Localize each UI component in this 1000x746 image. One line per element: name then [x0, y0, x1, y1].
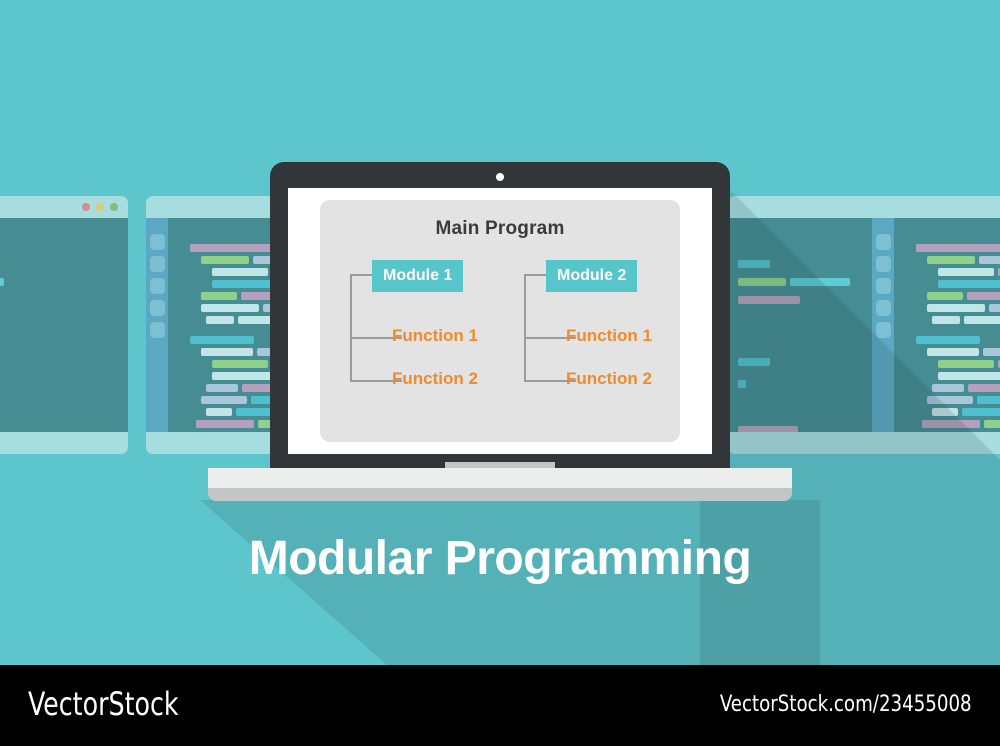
window-sidebar-rail	[146, 218, 168, 432]
code-line	[932, 384, 964, 392]
code-line	[979, 256, 1000, 264]
code-line	[201, 348, 253, 356]
module-box-1[interactable]: Module 1	[372, 260, 463, 292]
rail-button[interactable]	[876, 300, 891, 316]
vectorstock-credit: VectorStock.com/23455008	[720, 692, 972, 717]
rail-button[interactable]	[150, 234, 165, 250]
code-line	[938, 372, 1000, 380]
code-line	[927, 292, 963, 300]
code-line	[977, 396, 1000, 404]
vectorstock-logo: VectorStock	[28, 685, 179, 723]
code-line	[206, 408, 232, 416]
connector-vertical	[524, 274, 526, 382]
rail-button[interactable]	[876, 234, 891, 250]
module-box-2[interactable]: Module 2	[546, 260, 637, 292]
camera-dot-icon	[496, 173, 504, 181]
code-line	[206, 384, 238, 392]
laptop-lid: Main Program Module 1 Function 1 Functio…	[270, 162, 730, 470]
window-statusbar	[0, 432, 128, 454]
minimize-dot	[96, 203, 104, 211]
rail-button[interactable]	[150, 256, 165, 272]
footer-bar: VectorStock VectorStock.com/23455008	[0, 665, 1000, 746]
code-line	[938, 360, 994, 368]
code-line	[190, 244, 278, 252]
connector-vertical	[350, 274, 352, 382]
code-line	[201, 304, 259, 312]
rail-button[interactable]	[150, 300, 165, 316]
function-label-1-1[interactable]: Function 1	[392, 326, 478, 346]
window-traffic-lights	[82, 203, 118, 211]
window-titlebar	[872, 196, 1000, 218]
code-line	[938, 280, 1000, 288]
code-line	[206, 316, 234, 324]
function-label-2-2[interactable]: Function 2	[566, 369, 652, 389]
laptop-base-lip	[208, 488, 792, 501]
code-line	[962, 408, 1000, 416]
code-line	[983, 348, 1000, 356]
page-title: Main Program	[320, 218, 680, 240]
code-line	[927, 304, 985, 312]
rail-button[interactable]	[150, 278, 165, 294]
code-line	[201, 396, 247, 404]
close-dot	[82, 203, 90, 211]
function-label-1-2[interactable]: Function 2	[392, 369, 478, 389]
code-line	[967, 292, 1000, 300]
code-line	[932, 316, 960, 324]
code-line	[212, 360, 268, 368]
rail-button[interactable]	[876, 322, 891, 338]
code-line	[938, 268, 994, 276]
window-titlebar	[0, 196, 128, 218]
rail-button[interactable]	[876, 256, 891, 272]
code-line	[968, 384, 1000, 392]
code-line	[927, 256, 975, 264]
headline: Modular Programming	[0, 531, 1000, 586]
code-line	[964, 316, 1000, 324]
code-line	[916, 244, 1000, 252]
function-label-2-1[interactable]: Function 1	[566, 326, 652, 346]
illustration-canvas: Main Program Module 1 Function 1 Functio…	[0, 0, 1000, 746]
window-code-area	[0, 218, 128, 432]
rail-button[interactable]	[150, 322, 165, 338]
code-line	[984, 420, 1000, 428]
code-line	[989, 304, 1000, 312]
code-line	[201, 256, 249, 264]
code-line	[0, 278, 4, 286]
code-window-plain-left	[0, 196, 128, 454]
module-branch-2: Module 2 Function 1 Function 2	[514, 260, 674, 410]
module-branch-1: Module 1 Function 1 Function 2	[340, 260, 500, 410]
laptop-screen: Main Program Module 1 Function 1 Functio…	[288, 188, 712, 454]
rail-button[interactable]	[876, 278, 891, 294]
code-line	[927, 348, 979, 356]
code-line	[916, 336, 980, 344]
code-line	[201, 292, 237, 300]
code-line	[190, 336, 254, 344]
module-diagram-panel: Main Program Module 1 Function 1 Functio…	[320, 200, 680, 442]
maximize-dot	[110, 203, 118, 211]
laptop: Main Program Module 1 Function 1 Functio…	[270, 162, 730, 492]
code-line	[212, 268, 268, 276]
code-line	[196, 420, 254, 428]
